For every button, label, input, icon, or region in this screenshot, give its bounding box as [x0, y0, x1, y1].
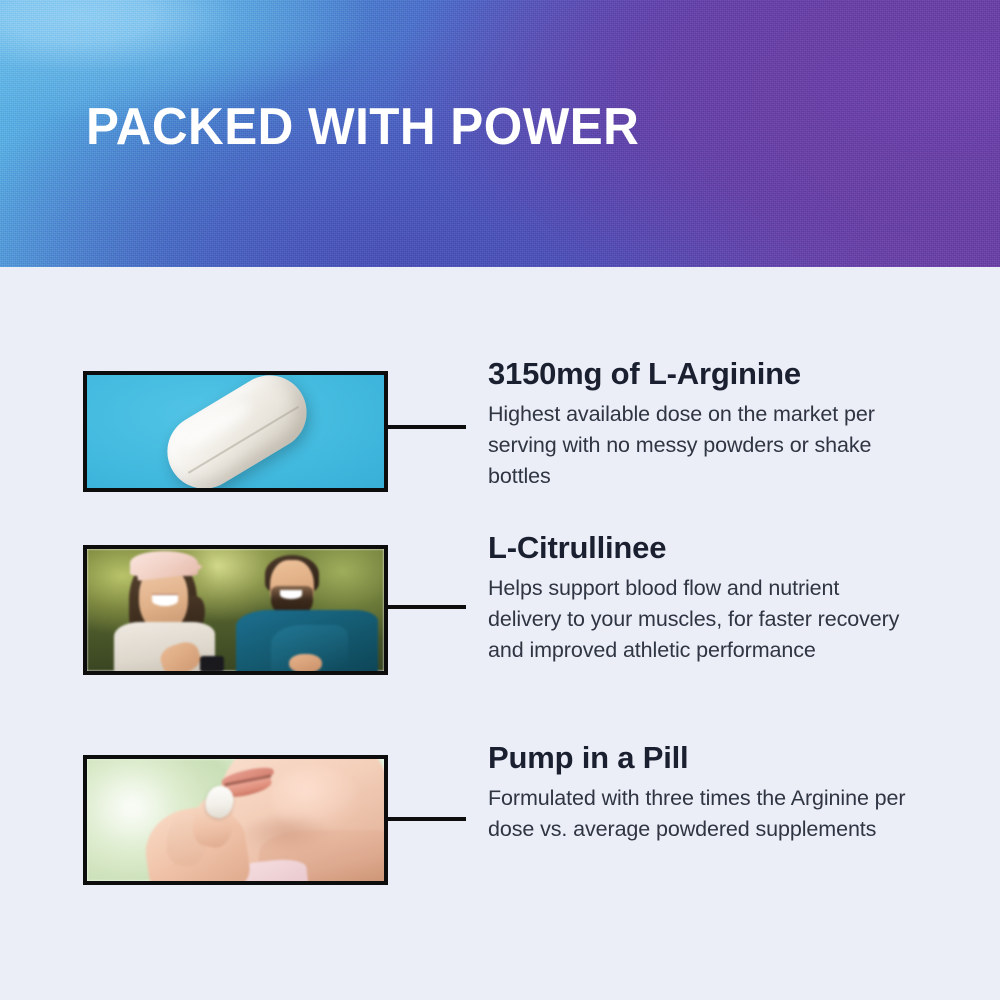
- feature-title: L-Citrullinee: [488, 529, 908, 567]
- feature-thumbnail-taking-pill: [83, 755, 388, 885]
- connector-line: [388, 425, 466, 429]
- capsule-shape: [153, 375, 320, 488]
- taking-pill-scene: [87, 759, 384, 881]
- feature-description: Highest available dose on the market per…: [488, 399, 908, 492]
- connector-line: [388, 817, 466, 821]
- wrist-watch: [200, 656, 224, 671]
- pill-background: [87, 375, 384, 488]
- capsule-highlight: [176, 396, 253, 453]
- feature-title: Pump in a Pill: [488, 739, 908, 777]
- feature-thumbnail-pill: [83, 371, 388, 492]
- runners-scene: [87, 549, 384, 671]
- header-banner: PACKED WITH POWER: [0, 0, 1000, 267]
- pill-illustration: [87, 375, 384, 488]
- page-title: PACKED WITH POWER: [86, 96, 639, 158]
- connector-line: [388, 605, 466, 609]
- chin-shadow: [241, 818, 330, 855]
- feature-title: 3150mg of L-Arginine: [488, 355, 908, 393]
- feature-description: Helps support blood flow and nutrient de…: [488, 573, 908, 666]
- feature-thumbnail-runners: [83, 545, 388, 675]
- taking-pill-photo: [87, 759, 384, 881]
- feature-copy: 3150mg of L-Arginine Highest available d…: [488, 355, 908, 492]
- feature-description: Formulated with three times the Arginine…: [488, 783, 908, 845]
- feature-copy: L-Citrullinee Helps support blood flow a…: [488, 529, 908, 666]
- runners-photo: [87, 549, 384, 671]
- man-hand: [289, 654, 322, 671]
- feature-copy: Pump in a Pill Formulated with three tim…: [488, 739, 908, 845]
